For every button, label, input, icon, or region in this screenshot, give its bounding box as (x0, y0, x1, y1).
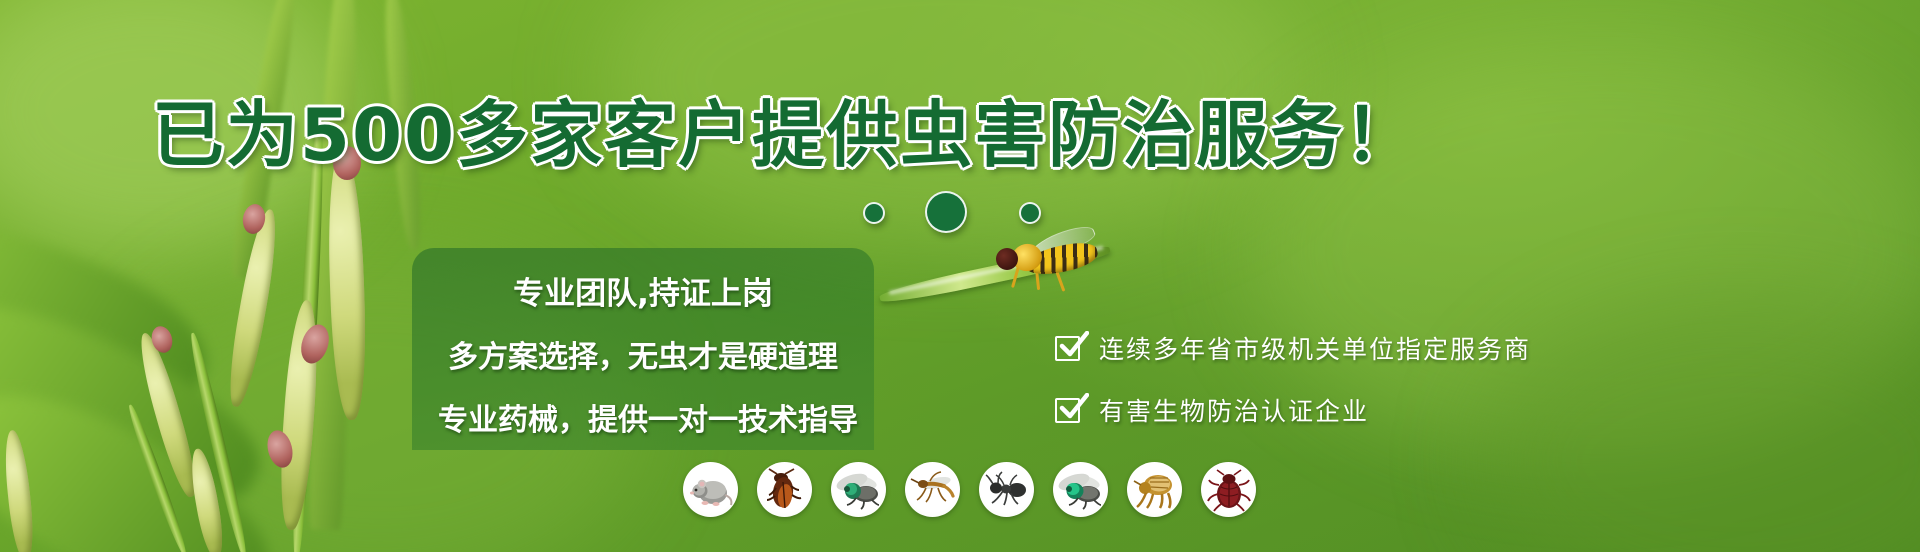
hoverfly-on-stem-image (880, 228, 1200, 338)
promo-banner: 已为500多家客户提供虫害防治服务！ 专业团队,持证上岗 多方案选择，无虫才是硬… (0, 0, 1920, 552)
checkbox-checked-icon (1055, 395, 1085, 425)
page-title: 已为500多家客户提供虫害防治服务！ (0, 76, 1570, 181)
selling-points-panel: 专业团队,持证上岗 多方案选择，无虫才是硬道理 专业药械，提供一对一技术指导 (412, 248, 874, 450)
fly-head (996, 248, 1018, 270)
dot-large-center (925, 191, 967, 233)
cockroach-icon[interactable] (757, 462, 812, 517)
housefly-icon[interactable] (831, 462, 886, 517)
selling-point-line-3: 专业药械，提供一对一技术指导 (438, 395, 848, 439)
dot-small-right (1019, 202, 1041, 224)
rodent-icon[interactable] (683, 462, 738, 517)
checklist-item: 有害生物防治认证企业 (1055, 392, 1695, 428)
pest-type-icon-row (683, 462, 1256, 517)
selling-point-line-2: 多方案选择，无虫才是硬道理 (438, 332, 848, 376)
checklist-item-label: 连续多年省市级机关单位指定服务商 (1099, 330, 1531, 366)
mosquito-icon[interactable] (905, 462, 960, 517)
checklist-item-label: 有害生物防治认证企业 (1099, 392, 1369, 428)
bedbug-icon[interactable] (1201, 462, 1256, 517)
checklist-item: 连续多年省市级机关单位指定服务商 (1055, 330, 1695, 366)
blowfly-icon[interactable] (1053, 462, 1108, 517)
selling-point-line-1: 专业团队,持证上岗 (438, 268, 848, 313)
flea-icon[interactable] (1127, 462, 1182, 517)
ant-icon[interactable] (979, 462, 1034, 517)
dot-small-left (863, 202, 885, 224)
certification-checklist: 连续多年省市级机关单位指定服务商 有害生物防治认证企业 (1055, 330, 1695, 454)
checkbox-checked-icon (1055, 333, 1085, 363)
